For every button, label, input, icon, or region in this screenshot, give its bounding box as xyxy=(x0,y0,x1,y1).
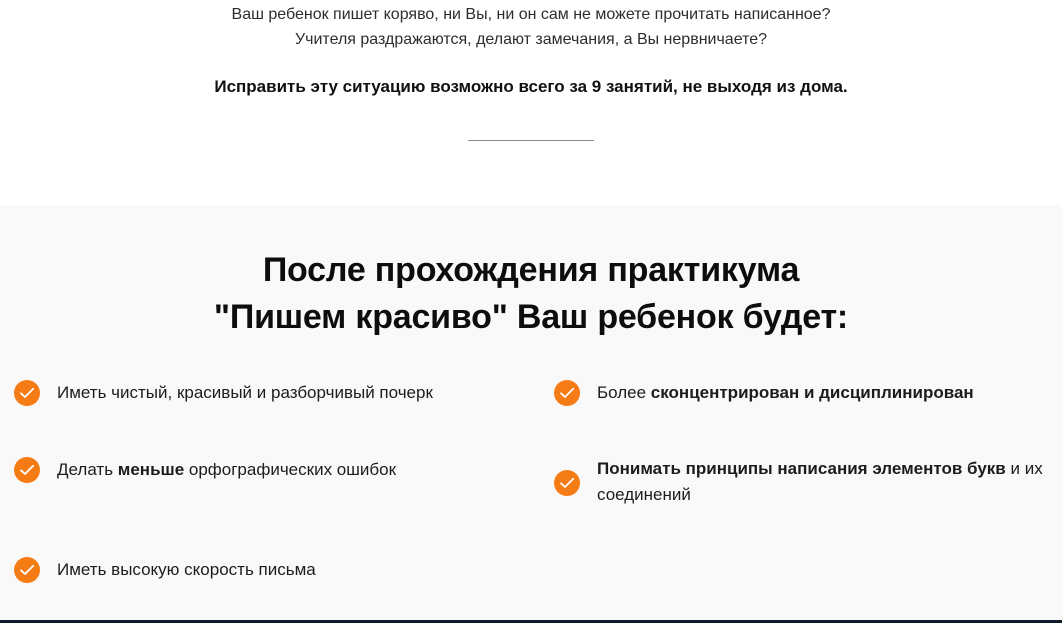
check-circle-icon xyxy=(14,557,40,583)
benefit-text-bold: Понимать принципы написания элементов бу… xyxy=(597,459,1006,478)
check-circle-icon xyxy=(14,457,40,483)
intro-question-line-2: Учителя раздражаются, делают замечания, … xyxy=(0,27,1062,52)
benefit-label: Делать меньше орфографических ошибок xyxy=(57,457,534,483)
benefits-heading: После прохождения практикума "Пишем крас… xyxy=(0,247,1062,341)
check-circle-icon xyxy=(14,380,40,406)
benefit-text-prefix: Иметь чистый, красивый и разборчивый поч… xyxy=(57,383,433,402)
intro-question-block: Ваш ребенок пишет коряво, ни Вы, ни он с… xyxy=(0,2,1062,52)
divider-container xyxy=(0,140,1062,158)
landing-page: Ваш ребенок пишет коряво, ни Вы, ни он с… xyxy=(0,0,1062,623)
benefits-heading-line-1: После прохождения практикума xyxy=(0,247,1062,294)
benefit-label: Иметь чистый, красивый и разборчивый поч… xyxy=(57,380,534,406)
benefit-item: Понимать принципы написания элементов бу… xyxy=(554,456,1054,508)
benefit-label: Более сконцентрирован и дисциплинирован xyxy=(597,380,1054,406)
benefits-right-column: Более сконцентрирован и дисциплинирован … xyxy=(554,371,1054,508)
benefit-label: Иметь высокую скорость письма xyxy=(57,557,534,583)
benefit-label: Понимать принципы написания элементов бу… xyxy=(597,456,1054,508)
benefits-section: После прохождения практикума "Пишем крас… xyxy=(0,205,1062,620)
intro-section: Ваш ребенок пишет коряво, ни Вы, ни он с… xyxy=(0,0,1062,205)
benefit-text-prefix: Делать xyxy=(57,460,118,479)
benefit-item: Делать меньше орфографических ошибок xyxy=(14,457,534,485)
benefit-text-suffix: орфографических ошибок xyxy=(184,460,396,479)
horizontal-rule-divider xyxy=(468,140,594,141)
benefit-text-prefix: Иметь высокую скорость письма xyxy=(57,560,316,579)
check-circle-icon xyxy=(554,470,580,496)
benefit-text-bold: сконцентрирован и дисциплинирован xyxy=(651,383,974,402)
intro-question-line-1: Ваш ребенок пишет коряво, ни Вы, ни он с… xyxy=(0,2,1062,27)
benefits-heading-line-2: "Пишем красиво" Ваш ребенок будет: xyxy=(0,294,1062,341)
benefits-left-column: Иметь чистый, красивый и разборчивый поч… xyxy=(14,371,534,585)
benefit-item: Более сконцентрирован и дисциплинирован xyxy=(554,380,1054,408)
intro-emphasis-text: Исправить эту ситуацию возможно всего за… xyxy=(0,75,1062,99)
benefit-text-bold: меньше xyxy=(118,460,184,479)
benefit-item: Иметь чистый, красивый и разборчивый поч… xyxy=(14,380,534,408)
benefit-item: Иметь высокую скорость письма xyxy=(14,557,534,585)
benefits-columns: Иметь чистый, красивый и разборчивый поч… xyxy=(0,371,1062,620)
benefit-text-prefix: Более xyxy=(597,383,651,402)
check-circle-icon xyxy=(554,380,580,406)
